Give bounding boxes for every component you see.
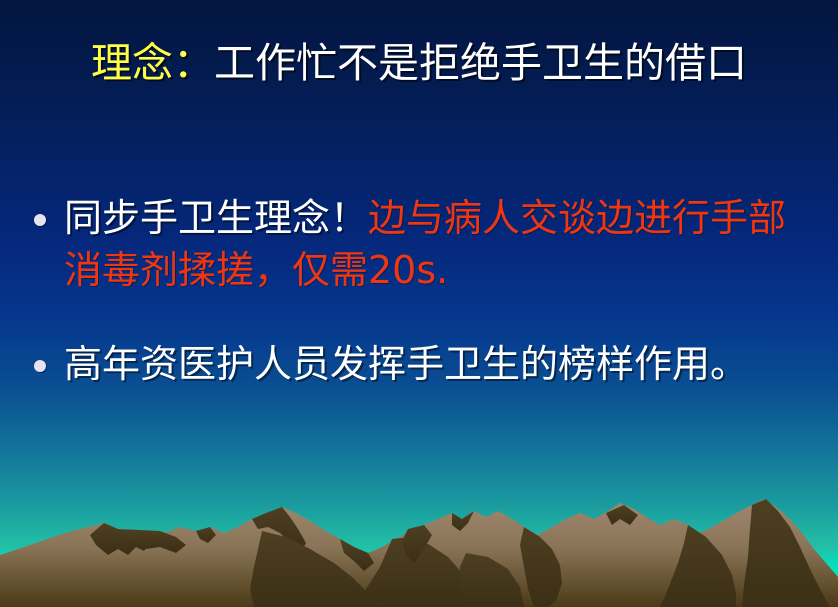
mountain-range-icon	[0, 497, 838, 607]
bullet-dot-icon	[34, 214, 46, 226]
bullet-dot-icon	[34, 360, 46, 372]
bullet-text-1: 同步手卫生理念！边与病人交谈边进行手部消毒剂揉搓，仅需20s.	[64, 192, 806, 296]
title-accent-text: 理念：	[91, 39, 214, 87]
title-main-text: 工作忙不是拒绝手卫生的借口	[214, 39, 747, 87]
list-item: 同步手卫生理念！边与病人交谈边进行手部消毒剂揉搓，仅需20s.	[34, 192, 806, 296]
list-item: 高年资医护人员发挥手卫生的榜样作用。	[34, 338, 806, 390]
bullet-2-segment-white: 高年资医护人员发挥手卫生的榜样作用。	[64, 342, 748, 386]
bullet-text-2: 高年资医护人员发挥手卫生的榜样作用。	[64, 338, 806, 390]
slide-title: 理念：工作忙不是拒绝手卫生的借口	[0, 38, 838, 88]
slide-canvas: 理念：工作忙不是拒绝手卫生的借口 同步手卫生理念！边与病人交谈边进行手部消毒剂揉…	[0, 0, 838, 607]
bullet-marker	[34, 192, 64, 230]
mountain-scenery-image	[0, 497, 838, 607]
bullet-list: 同步手卫生理念！边与病人交谈边进行手部消毒剂揉搓，仅需20s. 高年资医护人员发…	[34, 192, 806, 432]
bullet-1-segment-white: 同步手卫生理念！	[64, 196, 368, 240]
bullet-marker	[34, 338, 64, 376]
